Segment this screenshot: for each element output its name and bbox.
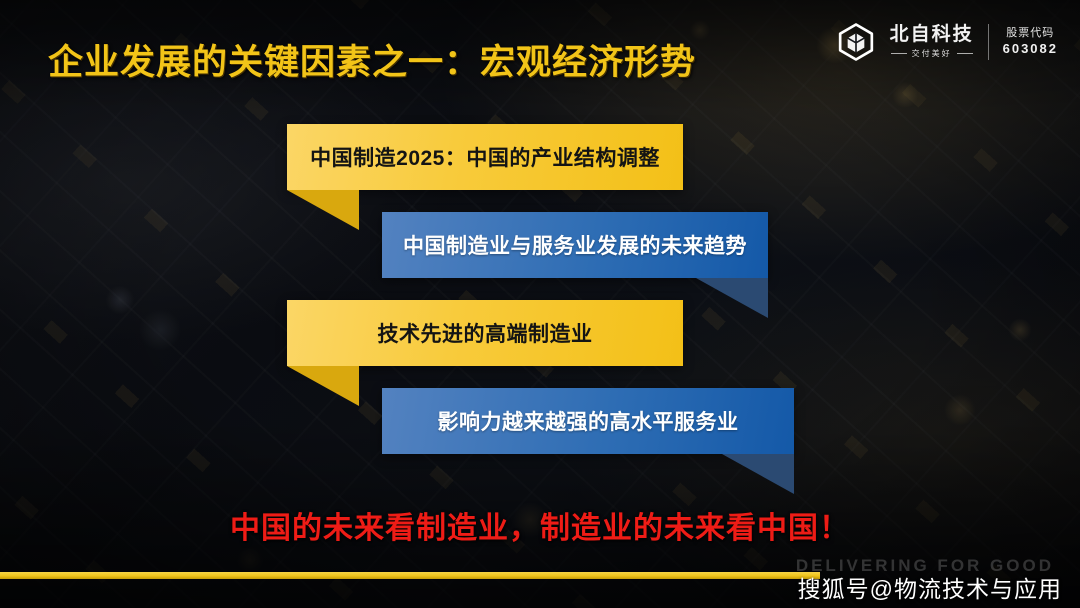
brand-name: 北自科技 [890,25,974,45]
logo-divider [988,24,989,60]
banner-label: 技术先进的高端制造业 [287,318,683,348]
banner-body: 技术先进的高端制造业 [287,300,683,366]
stock-code-label: 股票代码 [1006,27,1054,41]
stock-code-value: 603082 [1003,41,1058,57]
tagline-rule-right [957,53,973,54]
content-banner: 中国制造业与服务业发展的未来趋势 [382,212,768,278]
brand-tagline: 交付美好 [912,48,952,59]
footer-accent-rule [0,572,820,579]
content-banner: 影响力越来越强的高水平服务业 [382,388,794,454]
banner-label: 中国制造2025：中国的产业结构调整 [287,142,683,172]
banner-label: 影响力越来越强的高水平服务业 [382,406,794,436]
banner-body: 中国制造2025：中国的产业结构调整 [287,124,683,190]
brand-tagline-row: 交付美好 [891,48,973,59]
watermark: 搜狐号@物流技术与应用 [798,570,1062,604]
banner-body: 中国制造业与服务业发展的未来趋势 [382,212,768,278]
banner-label: 中国制造业与服务业发展的未来趋势 [382,230,768,260]
brand-logo: 北自科技 交付美好 股票代码 603082 [836,22,1058,62]
brand-name-block: 北自科技 交付美好 [890,25,974,59]
page-title: 企业发展的关键因素之一：宏观经济形势 [48,34,696,85]
banner-body: 影响力越来越强的高水平服务业 [382,388,794,454]
hexagon-cube-icon [836,22,876,62]
tagline-rule-left [891,53,907,54]
stock-code-block: 股票代码 603082 [1003,27,1058,57]
content-banner: 中国制造2025：中国的产业结构调整 [287,124,683,190]
content-banner: 技术先进的高端制造业 [287,300,683,366]
conclusion-text: 中国的未来看制造业，制造业的未来看中国！ [0,503,1080,547]
presentation-slide: 企业发展的关键因素之一：宏观经济形势 北自科技 交付美好 股票代码 603082… [0,0,1080,608]
